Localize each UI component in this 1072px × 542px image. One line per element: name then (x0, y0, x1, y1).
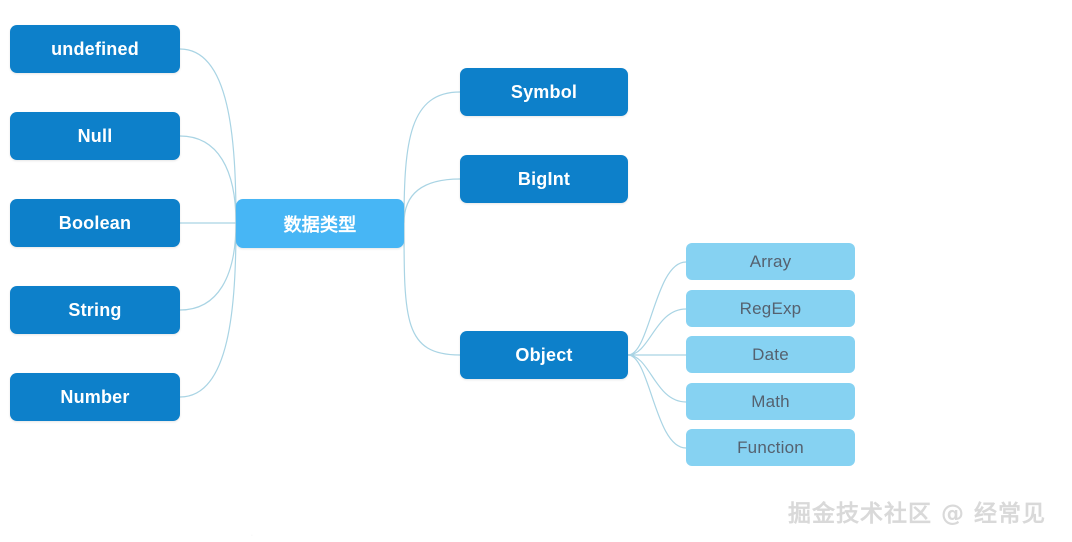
node-label: Array (750, 252, 792, 272)
connector-object-regexp (628, 309, 686, 355)
connector-object-function (628, 355, 686, 448)
node-label: undefined (51, 39, 139, 60)
connector-center-number (180, 223, 236, 397)
node-label: Object (515, 345, 572, 366)
node-label: Symbol (511, 82, 577, 103)
connector-object-math (628, 355, 686, 402)
node-label: RegExp (740, 299, 802, 319)
node-label: Number (60, 387, 129, 408)
node-label: Function (737, 438, 804, 458)
node-label: String (68, 300, 121, 321)
node-date[interactable]: Date (686, 336, 855, 373)
node-number[interactable]: Number (10, 373, 180, 421)
node-null[interactable]: Null (10, 112, 180, 160)
node-object[interactable]: Object (460, 331, 628, 379)
mindmap-canvas: undefined Null Boolean String Number 数据类… (0, 0, 1072, 542)
node-undefined[interactable]: undefined (10, 25, 180, 73)
node-boolean[interactable]: Boolean (10, 199, 180, 247)
ghost-artifact-text: . (250, 524, 258, 539)
node-center-datatypes[interactable]: 数据类型 (236, 199, 404, 248)
watermark: 掘金技术社区 @ 经常见 (788, 494, 1046, 528)
connector-center-null (180, 136, 236, 223)
node-symbol[interactable]: Symbol (460, 68, 628, 116)
node-label: Math (751, 392, 790, 412)
node-label: Date (752, 345, 789, 365)
node-bigint[interactable]: BigInt (460, 155, 628, 203)
node-math[interactable]: Math (686, 383, 855, 420)
node-array[interactable]: Array (686, 243, 855, 280)
connector-center-object (404, 223, 460, 355)
node-label: Null (78, 126, 113, 147)
node-string[interactable]: String (10, 286, 180, 334)
node-function[interactable]: Function (686, 429, 855, 466)
node-label: 数据类型 (284, 211, 357, 237)
node-label: Boolean (59, 213, 131, 234)
connector-object-array (628, 262, 686, 355)
connector-center-string (180, 223, 236, 310)
connector-center-bigint (404, 179, 460, 223)
connector-center-symbol (404, 92, 460, 223)
node-label: BigInt (518, 169, 570, 190)
connector-center-undefined (180, 49, 236, 223)
node-regexp[interactable]: RegExp (686, 290, 855, 327)
